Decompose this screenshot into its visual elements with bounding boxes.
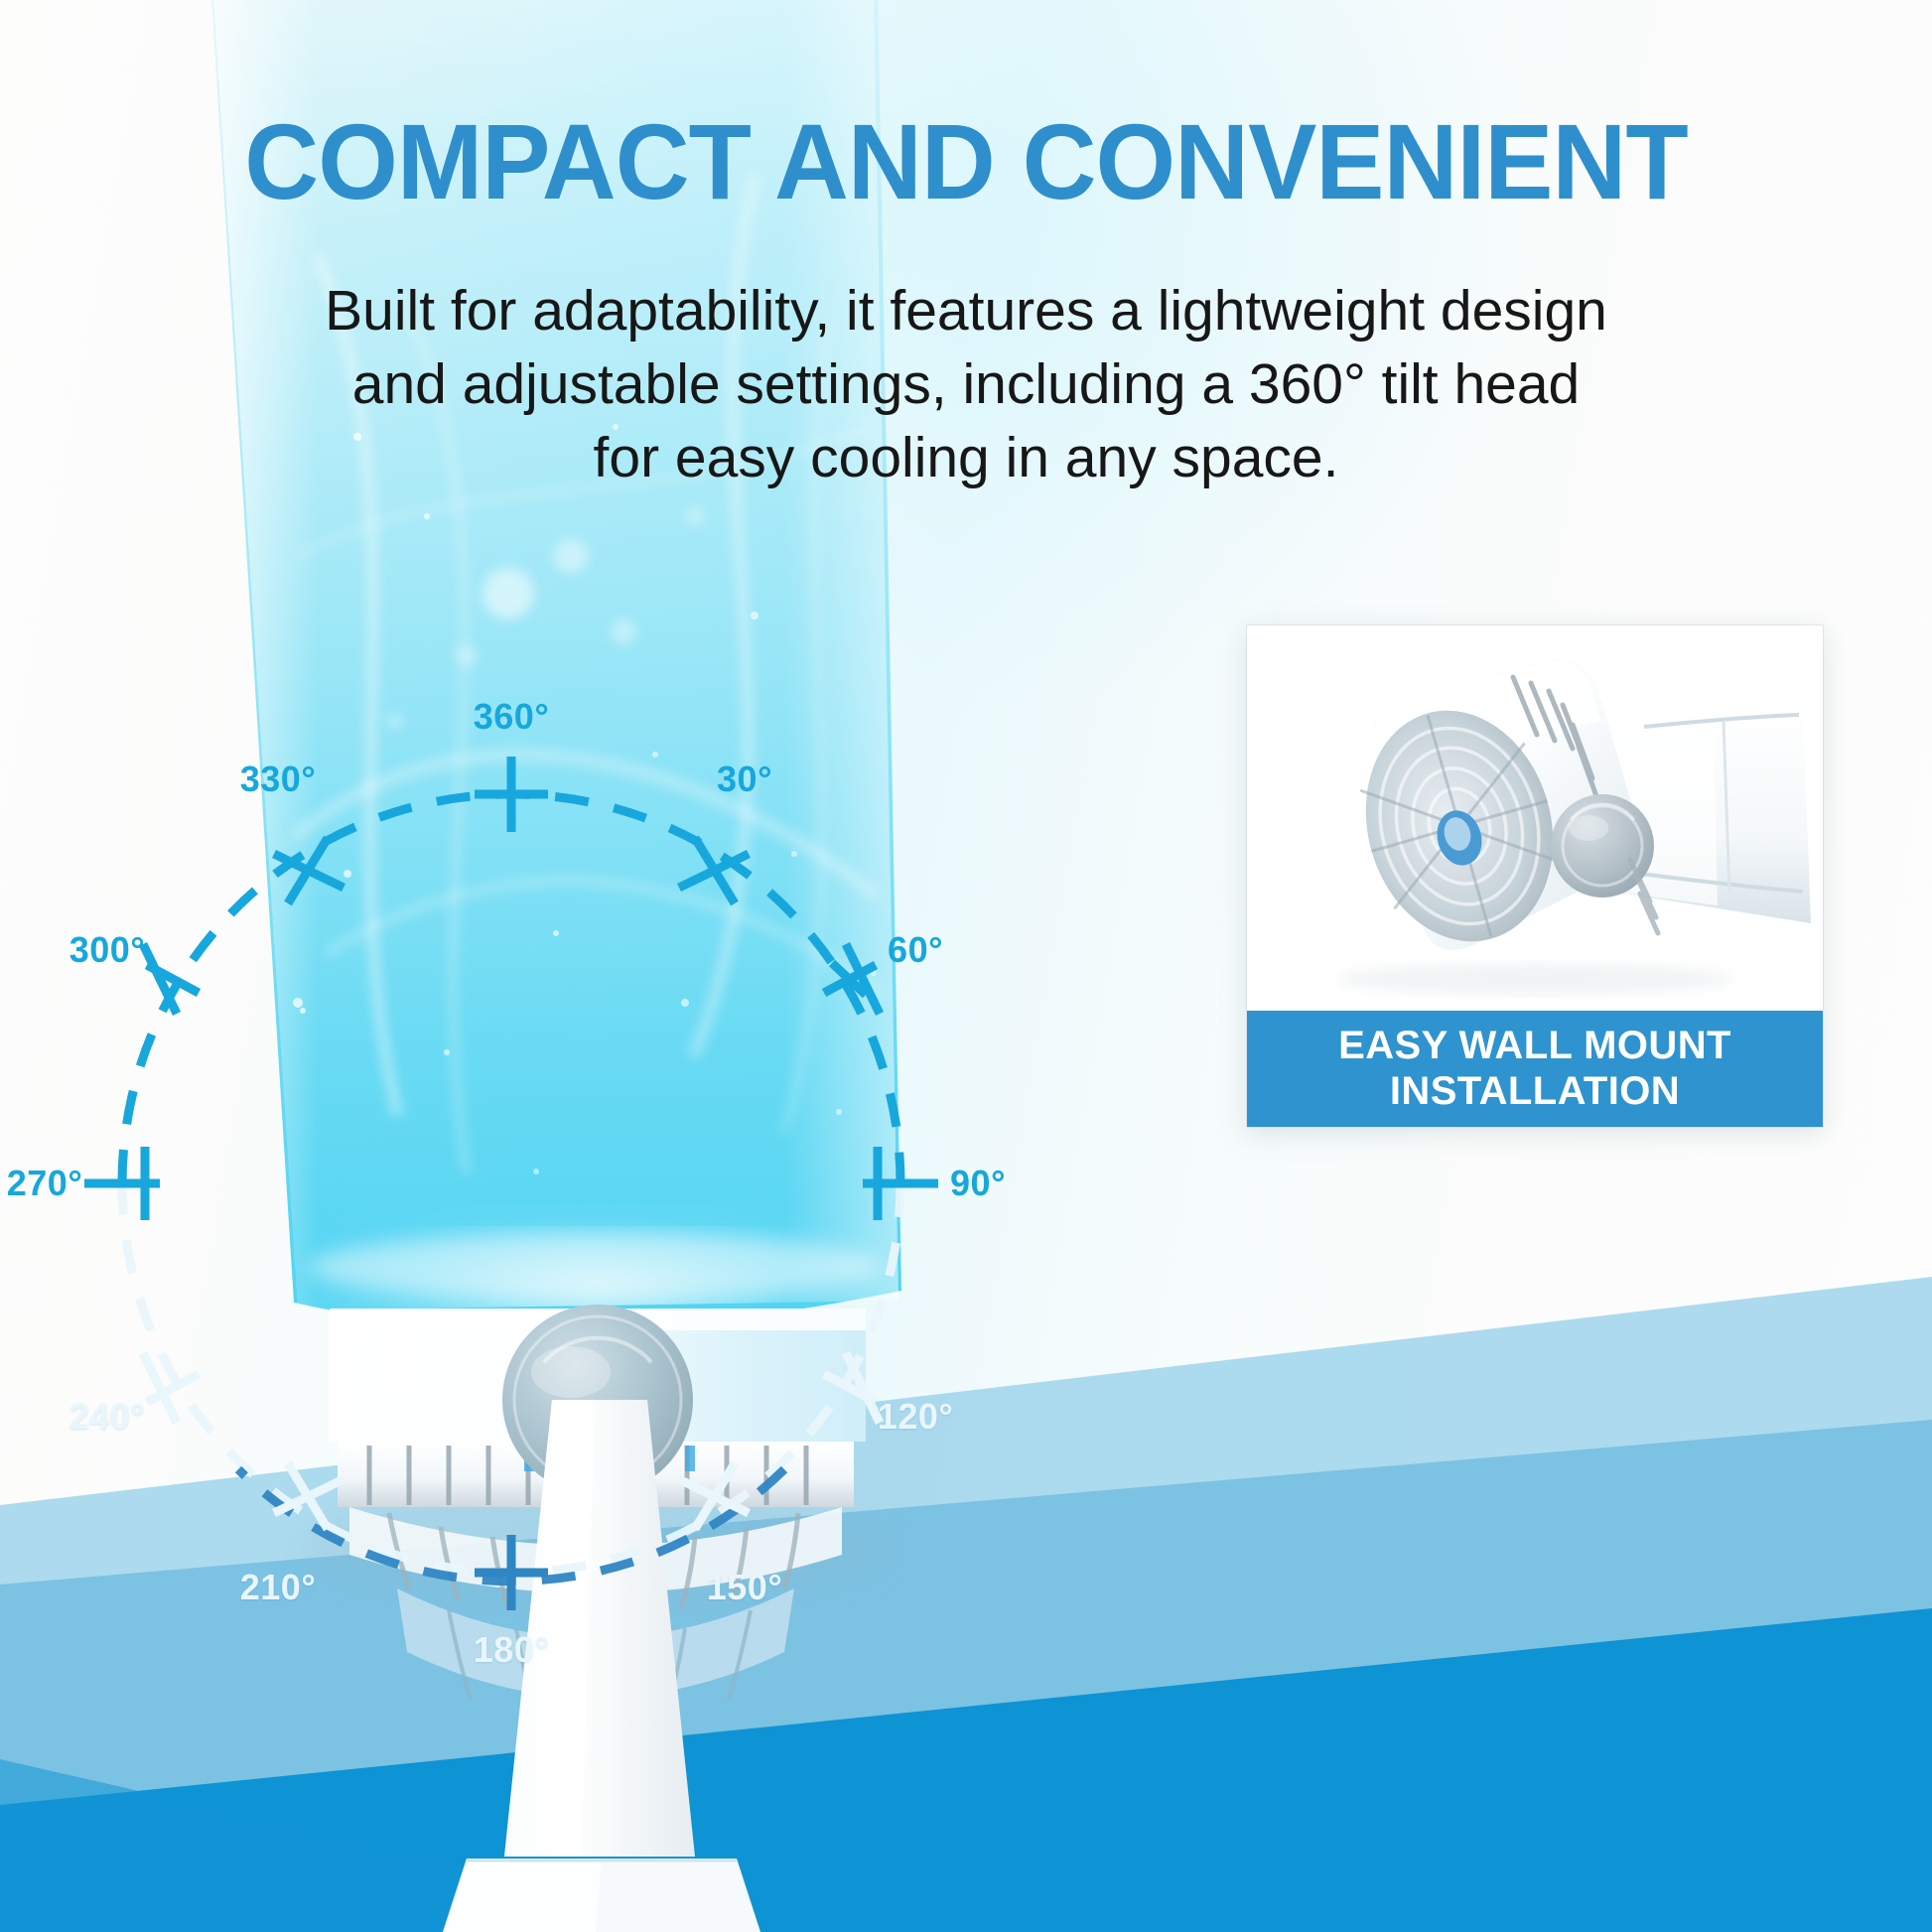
card-caption-line-2: INSTALLATION [1390,1069,1680,1115]
subtitle-line-3: for easy cooling in any space. [192,421,1740,494]
dial-label-360deg: 360° [474,696,549,738]
dial-label-210deg: 210° [240,1567,316,1608]
dial-label-270deg: 270° [7,1163,82,1204]
subtitle-line-1: Built for adaptability, it features a li… [192,274,1740,347]
page-title: COMPACT AND CONVENIENT [39,107,1893,216]
card-caption: EASY WALL MOUNT INSTALLATION [1247,1011,1823,1127]
dial-label-60deg: 60° [888,929,943,971]
dial-label-240deg: 240° [69,1396,145,1438]
dial-label-180deg: 180° [474,1629,549,1671]
dial-label-150deg: 150° [707,1567,782,1608]
dial-label-90deg: 90° [950,1163,1006,1204]
dial-label-30deg: 30° [717,759,772,800]
dial-label-120deg: 120° [878,1396,953,1438]
dial-label-330deg: 330° [240,759,316,800]
subtitle-line-2: and adjustable settings, including a 360… [192,347,1740,421]
easy-wall-mount-card: EASY WALL MOUNT INSTALLATION [1247,625,1823,1127]
card-caption-line-1: EASY WALL MOUNT [1338,1024,1731,1069]
page-subtitle: Built for adaptability, it features a li… [192,274,1740,494]
wall-mount-fan-photo [1247,625,1823,1011]
product-feature-banner: COMPACT AND CONVENIENT Built for adaptab… [0,0,1932,1932]
dial-label-300deg: 300° [69,929,145,971]
